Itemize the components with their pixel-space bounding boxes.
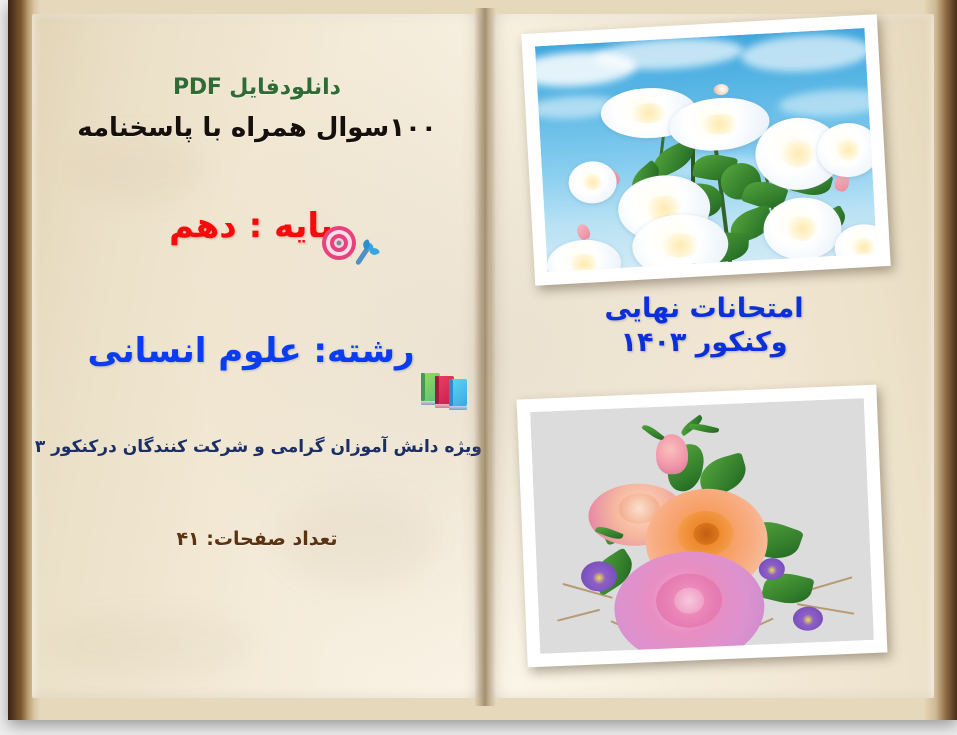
- paper-blotch: [52, 614, 252, 674]
- grade-label: پایه : دهم: [169, 206, 333, 246]
- grade-line: پایه : دهم: [32, 207, 482, 245]
- exam-headline: امتحانات نهایی وکنکور ۱۴۰۳: [498, 292, 910, 360]
- poster-stage: دانلودفایل PDF ۱۰۰سوال همراه با پاسخنامه: [0, 0, 957, 735]
- paper-blotch: [72, 134, 202, 204]
- white-roses-photo: [535, 28, 877, 272]
- rose-bouquet-photo: [530, 398, 874, 654]
- white-roses-frame: [521, 14, 891, 285]
- field-label: رشته: علوم انسانی: [87, 331, 414, 371]
- questions-count-label: ۱۰۰سوال همراه با پاسخنامه: [32, 114, 482, 143]
- page-count-label: تعداد صفحات: ۴۱: [32, 529, 482, 550]
- book-left-page: دانلودفایل PDF ۱۰۰سوال همراه با پاسخنامه: [32, 14, 482, 698]
- pdf-download-label: دانلودفایل PDF: [32, 76, 482, 101]
- book-spine-gutter: [474, 8, 496, 706]
- special-note: ویژه دانش آموزان گرامی و شرکت کنندگان در…: [32, 436, 482, 458]
- rose-bouquet-frame: [517, 385, 888, 668]
- field-line: رشته: علوم انسانی: [32, 332, 482, 371]
